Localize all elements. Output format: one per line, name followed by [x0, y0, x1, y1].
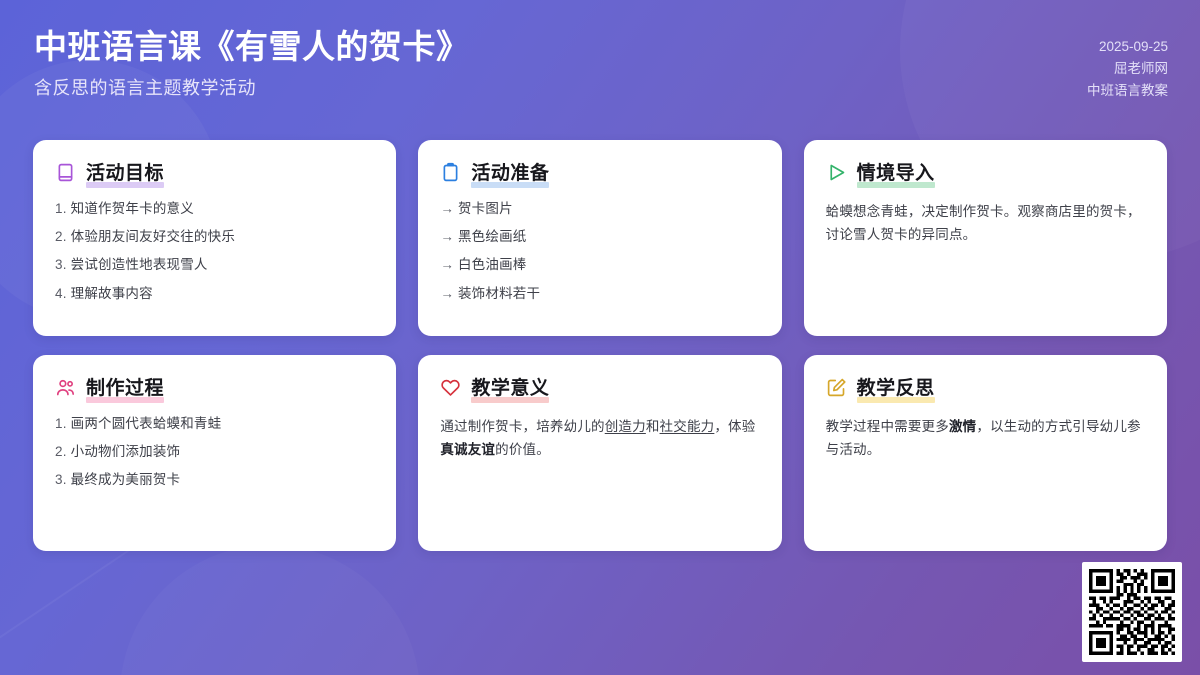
card-making-process: 制作过程1. 画两个圆代表蛤蟆和青蛙2. 小动物们添加装饰3. 最终成为美丽贺卡 [33, 355, 396, 551]
list-item: 1. 画两个圆代表蛤蟆和青蛙 [55, 415, 374, 433]
header-date: 2025-09-25 [1087, 36, 1168, 58]
card-situation-intro: 情境导入蛤蟆想念青蛙，决定制作贺卡。观察商店里的贺卡，讨论雪人贺卡的异同点。 [804, 140, 1167, 336]
list-marker: 2. [55, 444, 71, 459]
decorative-circle-bottom [120, 545, 420, 675]
card-title: 活动准备 [471, 158, 549, 187]
paragraph-text: 通过制作贺卡，培养幼儿的 [440, 419, 604, 434]
header-category: 中班语言教案 [1087, 80, 1168, 102]
list-item-text: 装饰材料若干 [458, 286, 540, 301]
card-paragraph: 教学过程中需要更多激情，以生动的方式引导幼儿参与活动。 [826, 415, 1145, 461]
qr-code [1089, 569, 1175, 655]
list-item-text: 画两个圆代表蛤蟆和青蛙 [71, 416, 222, 431]
card-list: → 贺卡图片→ 黑色绘画纸→ 白色油画棒→ 装饰材料若干 [440, 200, 759, 303]
card-list: 1. 知道作贺年卡的意义2. 体验朋友间友好交往的快乐3. 尝试创造性地表现雪人… [55, 200, 374, 303]
card-header: 教学意义 [440, 373, 759, 402]
list-item-text: 贺卡图片 [458, 201, 513, 216]
emphasis-bold: 真诚友谊 [440, 442, 495, 457]
card-title: 活动目标 [86, 158, 164, 187]
list-item: → 黑色绘画纸 [440, 228, 759, 246]
emphasis-underline: 创造力 [605, 419, 646, 434]
card-title: 教学意义 [471, 373, 549, 402]
list-marker: → [440, 201, 458, 216]
list-item-text: 知道作贺年卡的意义 [71, 201, 194, 216]
paragraph-text: 的价值。 [495, 442, 550, 457]
card-header: 教学反思 [826, 373, 1145, 402]
header-meta-group: 2025-09-25 屈老师网 中班语言教案 [1087, 26, 1168, 102]
list-item-text: 最终成为美丽贺卡 [71, 472, 181, 487]
list-marker: 3. [55, 472, 71, 487]
play-triangle-icon [826, 162, 847, 183]
card-paragraph: 蛤蟆想念青蛙，决定制作贺卡。观察商店里的贺卡，讨论雪人贺卡的异同点。 [826, 200, 1145, 246]
paragraph-text: 和 [646, 419, 660, 434]
page-subtitle: 含反思的语言主题教学活动 [34, 74, 470, 100]
card-title: 制作过程 [86, 373, 164, 402]
list-item-text: 小动物们添加装饰 [71, 444, 181, 459]
list-item: 3. 最终成为美丽贺卡 [55, 471, 374, 489]
list-marker: → [440, 286, 458, 301]
card-list: 1. 画两个圆代表蛤蟆和青蛙2. 小动物们添加装饰3. 最终成为美丽贺卡 [55, 415, 374, 490]
header-site-name: 屈老师网 [1087, 58, 1168, 80]
card-header: 活动准备 [440, 158, 759, 187]
card-title: 教学反思 [857, 373, 935, 402]
card-header: 活动目标 [55, 158, 374, 187]
emphasis-underline: 社交能力 [660, 419, 715, 434]
list-item: 4. 理解故事内容 [55, 285, 374, 303]
clipboard-icon [440, 162, 461, 183]
users-icon [55, 377, 76, 398]
list-item-text: 黑色绘画纸 [458, 229, 527, 244]
list-marker: → [440, 229, 458, 244]
list-item: 2. 小动物们添加装饰 [55, 443, 374, 461]
emphasis-bold: 激情 [949, 419, 976, 434]
list-item-text: 白色油画棒 [458, 257, 527, 272]
card-header: 制作过程 [55, 373, 374, 402]
list-item-text: 理解故事内容 [71, 286, 153, 301]
list-marker: 2. [55, 229, 71, 244]
list-item: 2. 体验朋友间友好交往的快乐 [55, 228, 374, 246]
edit-square-icon [826, 377, 847, 398]
list-marker: 1. [55, 201, 71, 216]
paragraph-text: ，体验 [714, 419, 755, 434]
list-item-text: 体验朋友间友好交往的快乐 [71, 229, 235, 244]
heart-icon [440, 377, 461, 398]
list-item-text: 尝试创造性地表现雪人 [71, 257, 208, 272]
poster-header: 中班语言课《有雪人的贺卡》 含反思的语言主题教学活动 2025-09-25 屈老… [0, 0, 1200, 102]
card-objectives: 活动目标1. 知道作贺年卡的意义2. 体验朋友间友好交往的快乐3. 尝试创造性地… [33, 140, 396, 336]
list-item: 3. 尝试创造性地表现雪人 [55, 256, 374, 274]
qr-code-container[interactable] [1082, 562, 1182, 662]
poster-canvas: 中班语言课《有雪人的贺卡》 含反思的语言主题教学活动 2025-09-25 屈老… [0, 0, 1200, 675]
list-item: 1. 知道作贺年卡的意义 [55, 200, 374, 218]
paragraph-text: 教学过程中需要更多 [826, 419, 949, 434]
book-icon [55, 162, 76, 183]
list-marker: 1. [55, 416, 71, 431]
card-paragraph: 通过制作贺卡，培养幼儿的创造力和社交能力，体验真诚友谊的价值。 [440, 415, 759, 461]
page-title: 中班语言课《有雪人的贺卡》 [34, 26, 470, 67]
card-title: 情境导入 [857, 158, 935, 187]
header-left-group: 中班语言课《有雪人的贺卡》 含反思的语言主题教学活动 [34, 26, 470, 100]
list-marker: 4. [55, 286, 71, 301]
card-header: 情境导入 [826, 158, 1145, 187]
list-marker: 3. [55, 257, 71, 272]
card-preparation: 活动准备→ 贺卡图片→ 黑色绘画纸→ 白色油画棒→ 装饰材料若干 [418, 140, 781, 336]
card-teaching-reflection: 教学反思教学过程中需要更多激情，以生动的方式引导幼儿参与活动。 [804, 355, 1167, 551]
list-item: → 白色油画棒 [440, 256, 759, 274]
list-item: → 装饰材料若干 [440, 285, 759, 303]
card-grid: 活动目标1. 知道作贺年卡的意义2. 体验朋友间友好交往的快乐3. 尝试创造性地… [33, 140, 1167, 551]
list-marker: → [440, 257, 458, 272]
card-teaching-meaning: 教学意义通过制作贺卡，培养幼儿的创造力和社交能力，体验真诚友谊的价值。 [418, 355, 781, 551]
list-item: → 贺卡图片 [440, 200, 759, 218]
